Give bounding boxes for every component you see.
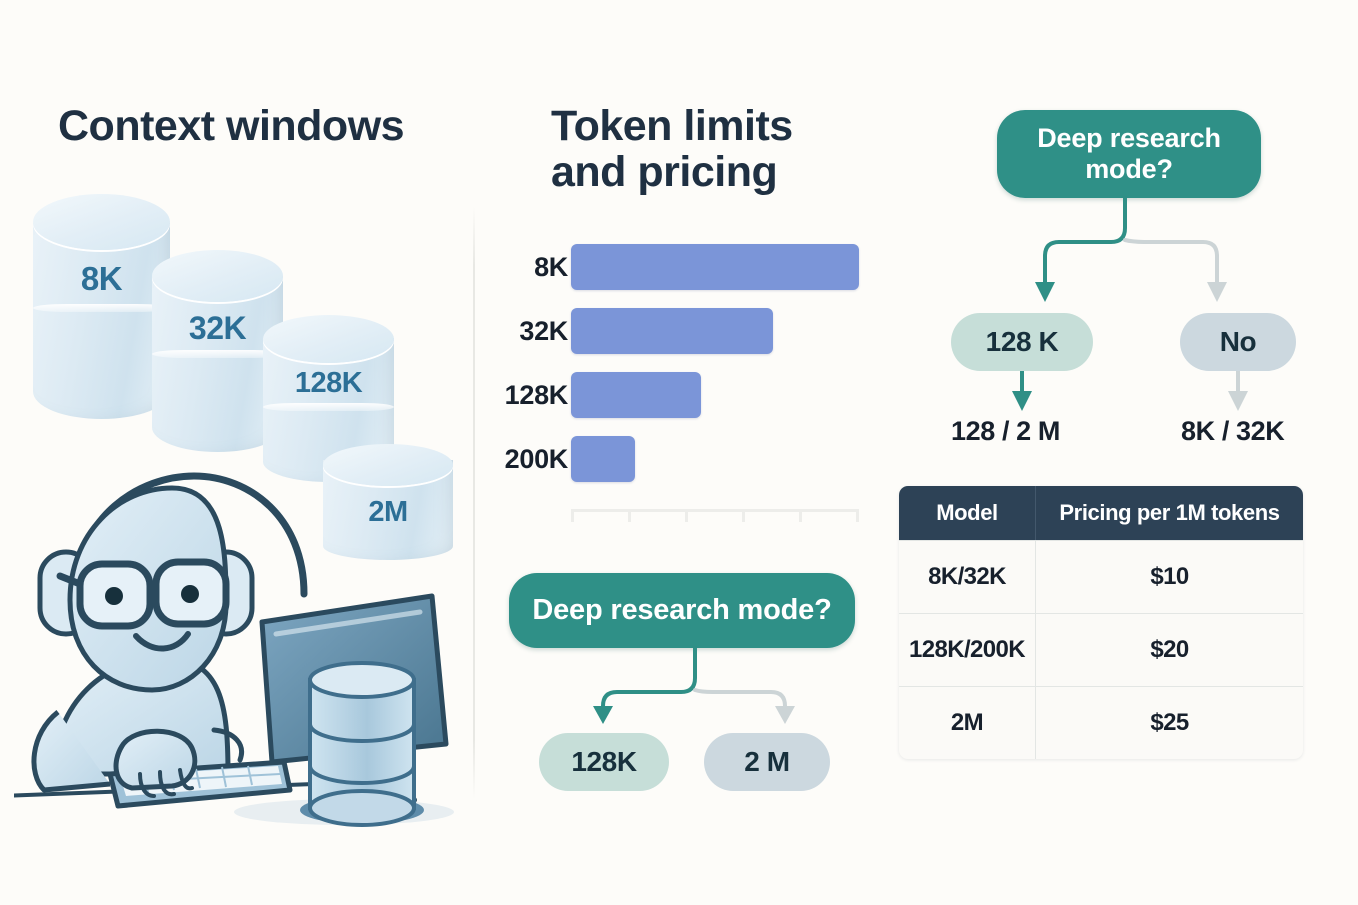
table-row: 2M $25 — [899, 686, 1303, 759]
axis-tick — [856, 509, 859, 522]
bar-category-label: 200K — [484, 436, 568, 482]
table-cell-price: $25 — [1036, 687, 1303, 759]
table-cell-model: 8K/32K — [899, 541, 1036, 613]
flow-endlabel-no: 8K / 32K — [1181, 416, 1284, 447]
table-row: 8K/32K $10 — [899, 540, 1303, 613]
bar-row: 200K — [484, 436, 884, 482]
axis-tick — [799, 509, 802, 522]
table-header-row: Model Pricing per 1M tokens — [899, 486, 1303, 540]
table-header-model: Model — [899, 486, 1036, 540]
table-row: 128K/200K $20 — [899, 613, 1303, 686]
cylinder-8k: 8K — [33, 194, 170, 419]
pricing-table: Model Pricing per 1M tokens 8K/32K $10 1… — [899, 486, 1303, 759]
cylinder-body — [33, 223, 170, 419]
bar-value — [571, 436, 635, 482]
table-cell-price: $20 — [1036, 614, 1303, 686]
flow-connectors-right-lower — [951, 371, 1301, 413]
flow-connectors-middle — [509, 648, 855, 730]
axis-tick — [685, 509, 688, 522]
bar-row: 128K — [484, 372, 884, 418]
cylinder-ring — [33, 304, 170, 312]
bar-row: 32K — [484, 308, 884, 354]
table-cell-price: $10 — [1036, 541, 1303, 613]
table-cell-model: 128K/200K — [899, 614, 1036, 686]
flow-result-no-right[interactable]: No — [1180, 313, 1296, 371]
axis-tick — [571, 509, 574, 522]
flow-connectors-right — [997, 198, 1261, 318]
page-title-line-2: and pricing — [551, 150, 881, 196]
flow-question-line-2: mode? — [1085, 154, 1173, 185]
bar-value — [571, 372, 701, 418]
cylinder-label: 128K — [263, 367, 394, 400]
cylinder-top — [263, 315, 394, 363]
page-title-token-limits: Token limits and pricing — [551, 104, 881, 195]
flow-result-128k-right[interactable]: 128 K — [951, 313, 1093, 371]
flow-result-128k-middle[interactable]: 128K — [539, 733, 669, 791]
cylinder-top — [152, 250, 283, 302]
cylinder-top — [33, 194, 170, 250]
bar-chart: 8K 32K 128K 200K — [484, 236, 884, 516]
flow-question-line-1: Deep research — [1037, 123, 1221, 154]
cylinder-ring — [263, 403, 394, 411]
bar-value — [571, 308, 773, 354]
section-divider — [473, 207, 475, 799]
flow-endlabel-yes: 128 / 2 M — [951, 416, 1060, 447]
bar-value — [571, 244, 859, 290]
bar-category-label: 128K — [484, 372, 568, 418]
infographic-canvas: Context windows 8K 32K 128K 2M — [0, 0, 1358, 905]
axis-line — [571, 509, 859, 512]
page-title-line-1: Token limits — [551, 104, 881, 150]
table-header-pricing: Pricing per 1M tokens — [1036, 486, 1303, 540]
flow-question-box-right[interactable]: Deep research mode? — [997, 110, 1261, 198]
flow-result-2m-middle[interactable]: 2 M — [704, 733, 830, 791]
cylinder-label: 8K — [33, 260, 170, 298]
axis-tick — [628, 509, 631, 522]
axis-tick — [742, 509, 745, 522]
page-title-context-windows: Context windows — [58, 104, 404, 150]
table-cell-model: 2M — [899, 687, 1036, 759]
bar-row: 8K — [484, 244, 884, 290]
bar-category-label: 8K — [484, 244, 568, 290]
bar-category-label: 32K — [484, 308, 568, 354]
flow-question-box-middle[interactable]: Deep research mode? — [509, 573, 855, 648]
person-at-computer-illustration — [14, 444, 474, 836]
chart-x-axis — [571, 509, 859, 522]
